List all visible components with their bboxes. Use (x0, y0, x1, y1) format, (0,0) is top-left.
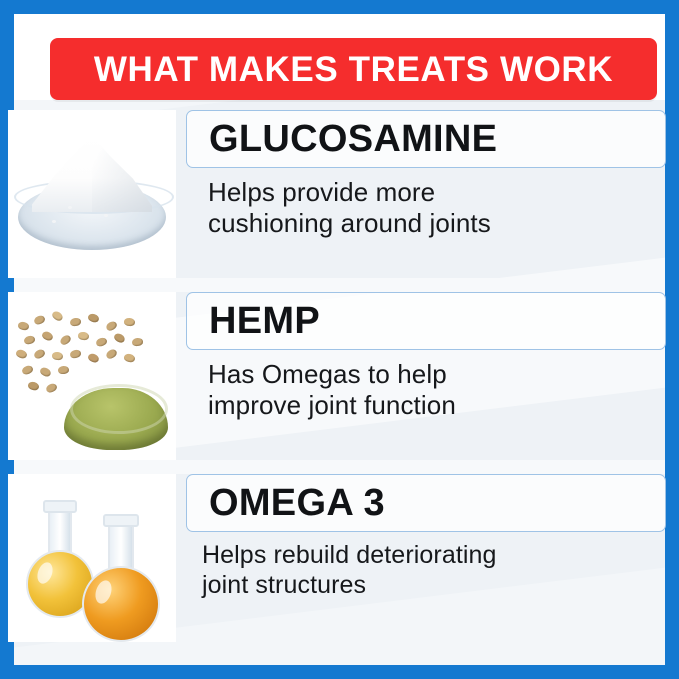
hemp-seed (39, 366, 52, 378)
ingredient-description: Has Omegas to help improve joint functio… (186, 359, 666, 420)
ingredient-content-glucosamine: GLUCOSAMINE Helps provide more cushionin… (186, 110, 666, 238)
ingredient-description: Helps rebuild deteriorating joint struct… (186, 541, 666, 600)
ingredient-row-glucosamine: GLUCOSAMINE Helps provide more cushionin… (0, 110, 679, 284)
page-title: WHAT MAKES TREATS WORK (94, 52, 613, 87)
ingredient-title-box: HEMP (186, 292, 666, 350)
hemp-seed (41, 330, 54, 342)
hemp-seed (124, 317, 136, 326)
infographic-canvas: WHAT MAKES TREATS WORK GLUCOSAMINE Helps… (0, 0, 679, 679)
ingredient-description: Helps provide more cushioning around joi… (186, 177, 666, 238)
ingredient-description-line: joint structures (202, 571, 666, 601)
ingredient-description-line: cushioning around joints (208, 208, 666, 239)
hemp-seed (17, 321, 29, 331)
header-pill: WHAT MAKES TREATS WORK (50, 38, 657, 100)
ingredient-title: OMEGA 3 (209, 484, 385, 522)
hemp-seed (33, 314, 46, 326)
hemp-seed (21, 364, 34, 375)
hemp-seed (45, 382, 58, 394)
ingredient-title: GLUCOSAMINE (209, 120, 497, 158)
header-band: WHAT MAKES TREATS WORK (14, 14, 665, 100)
hemp-seed (105, 348, 119, 361)
powder-grain (104, 214, 108, 217)
powder-grain (52, 220, 56, 223)
hemp-seed (23, 335, 36, 345)
ingredient-row-omega3: OMEGA 3 Helps rebuild deteriorating join… (0, 474, 679, 648)
hemp-seed (33, 348, 46, 360)
hemp-seed (59, 334, 73, 347)
ingredient-description-line: Has Omegas to help (208, 359, 666, 390)
ingredient-content-omega3: OMEGA 3 Helps rebuild deteriorating join… (186, 474, 666, 600)
hemp-seed (27, 381, 40, 392)
hemp-seed (132, 337, 144, 346)
flask-lip-right (103, 514, 139, 527)
ingredient-description-line: improve joint function (208, 390, 666, 421)
hemp-seed (51, 351, 63, 360)
hemp-seed (69, 349, 81, 359)
hemp-powder-scoop-rim (70, 384, 168, 434)
ingredient-title: HEMP (209, 302, 320, 340)
ingredient-description-line: Helps provide more (208, 177, 666, 208)
hemp-seed (77, 331, 89, 341)
hemp-seed (87, 352, 100, 364)
hemp-seed (105, 320, 119, 332)
frame-border-bottom (0, 665, 679, 679)
ingredient-row-hemp: HEMP Has Omegas to help improve joint fu… (0, 292, 679, 466)
ingredient-content-hemp: HEMP Has Omegas to help improve joint fu… (186, 292, 666, 420)
flask-body-right (82, 566, 160, 642)
powder-grain (68, 206, 72, 209)
frame-border-top (0, 0, 679, 14)
ingredient-title-box: OMEGA 3 (186, 474, 666, 532)
hemp-seed (95, 336, 108, 347)
ingredient-title-box: GLUCOSAMINE (186, 110, 666, 168)
hemp-seeds-and-powder-photo (8, 292, 176, 460)
ingredient-description-line: Helps rebuild deteriorating (202, 541, 666, 571)
hemp-seed (123, 353, 136, 363)
omega-3-oil-flasks-photo (8, 474, 176, 642)
hemp-seed (113, 332, 127, 344)
hemp-seed (51, 310, 65, 323)
hemp-seed (87, 312, 100, 323)
glucosamine-powder-photo (8, 110, 176, 278)
hemp-seed (58, 366, 70, 375)
flask-lip-left (43, 500, 77, 513)
hemp-seed (15, 348, 28, 359)
hemp-seed (69, 317, 81, 326)
